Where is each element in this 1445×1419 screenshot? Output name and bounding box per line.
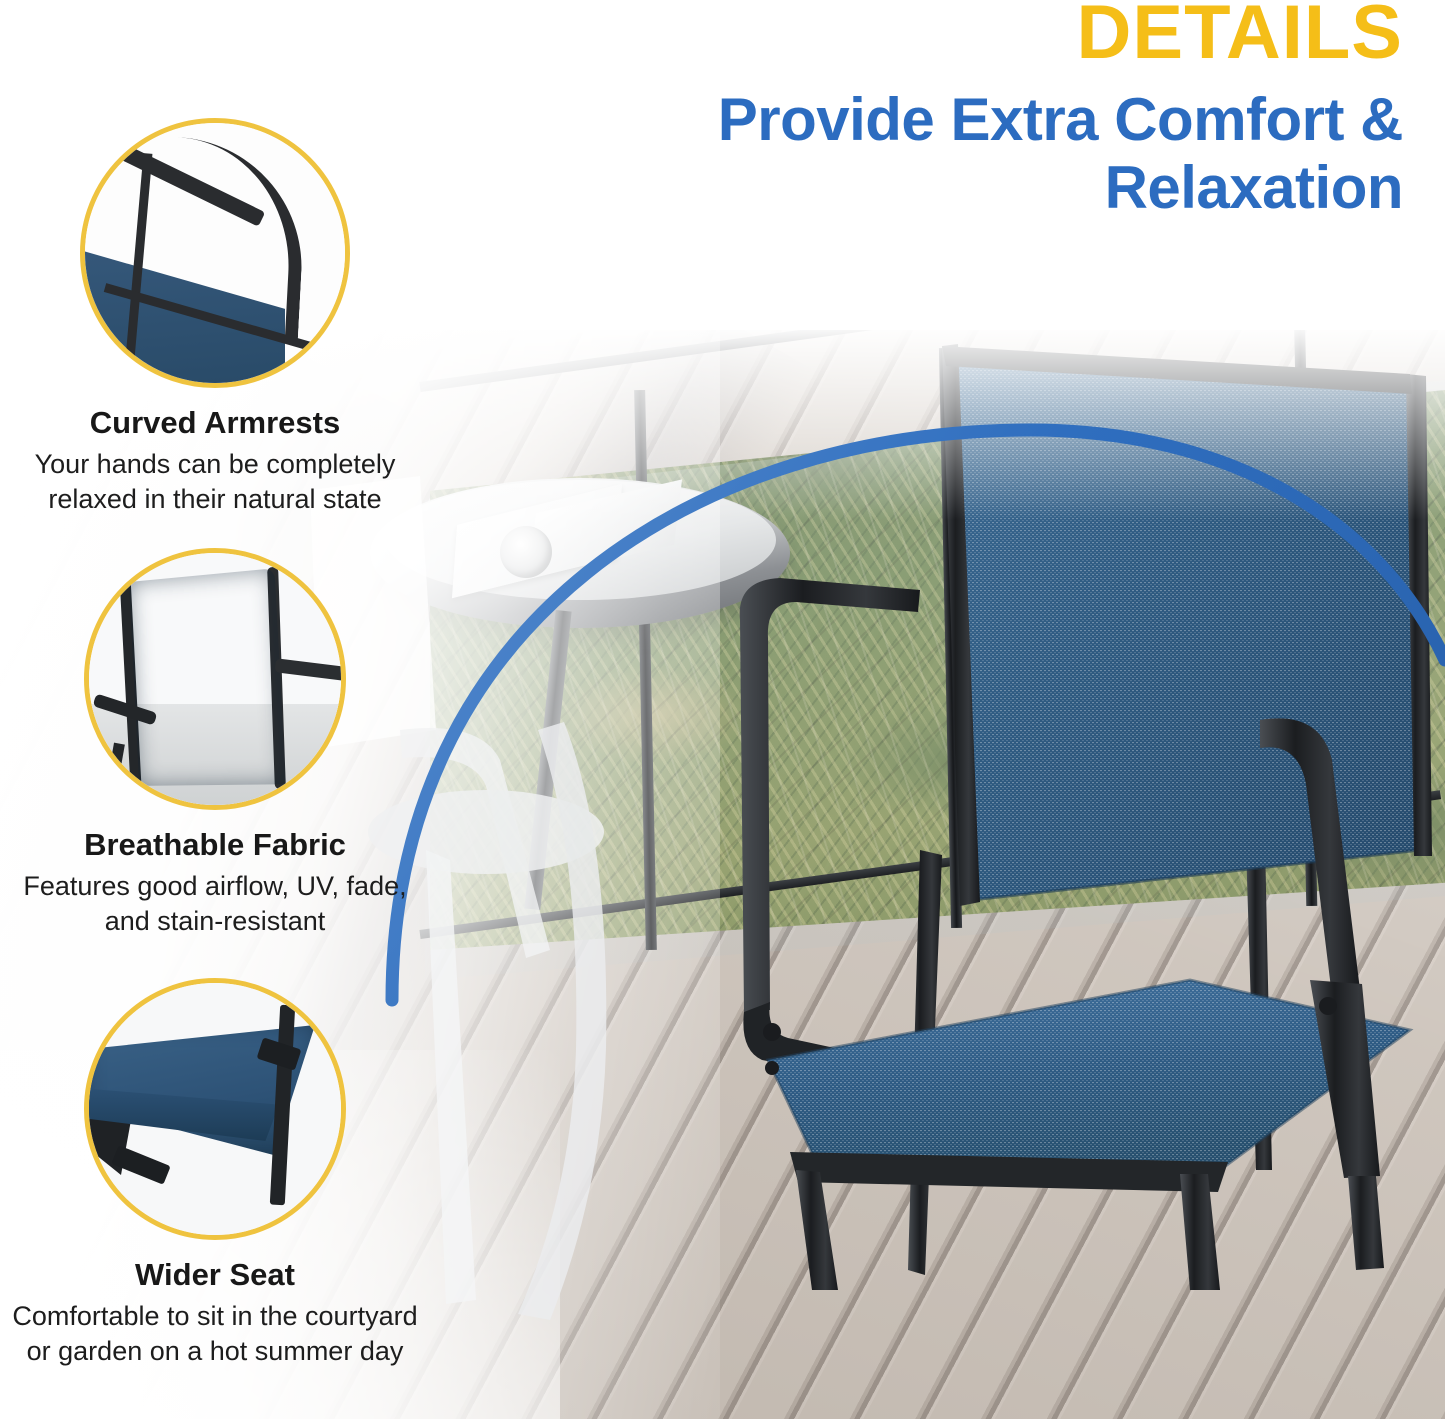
feature-title: Wider Seat (0, 1256, 435, 1293)
feature-description-line-1: Features good airflow, UV, fade, (1, 869, 429, 904)
feature-breathable-fabric: Breathable Fabric Features good airflow,… (0, 548, 435, 939)
feature-image-curved-armrests (80, 118, 350, 388)
feature-image-wider-seat (84, 978, 346, 1240)
feature-description-line-2: relaxed in their natural state (1, 482, 429, 517)
product-detail-canvas: DETAILS Provide Extra Comfort & Relaxati… (0, 0, 1445, 1419)
feature-description: Features good airflow, UV, fade, and sta… (0, 869, 435, 939)
header-block: DETAILS Provide Extra Comfort & Relaxati… (503, 0, 1403, 221)
magazine-curl (500, 526, 552, 578)
feature-image-breathable-fabric (84, 548, 346, 810)
feature-description: Comfortable to sit in the courtyard or g… (0, 1299, 435, 1369)
headline-line-1: Provide Extra Comfort & (503, 86, 1403, 153)
eyebrow-heading: DETAILS (503, 0, 1403, 70)
feature-description-line-2: or garden on a hot summer day (1, 1334, 429, 1369)
main-chair-illustration (620, 290, 1445, 1290)
feature-curved-armrests: Curved Armrests Your hands can be comple… (0, 118, 435, 517)
mesh-backrest (129, 568, 286, 786)
feature-description: Your hands can be completely relaxed in … (0, 447, 435, 517)
feature-title: Breathable Fabric (0, 826, 435, 863)
feature-description-line-2: and stain-resistant (1, 904, 429, 939)
headline-line-2: Relaxation (503, 154, 1403, 221)
feature-title: Curved Armrests (0, 404, 435, 441)
feature-description-line-1: Comfortable to sit in the courtyard (1, 1299, 429, 1334)
page-title: Provide Extra Comfort & Relaxation (503, 86, 1403, 220)
feature-wider-seat: Wider Seat Comfortable to sit in the cou… (0, 978, 435, 1369)
feature-description-line-1: Your hands can be completely (1, 447, 429, 482)
